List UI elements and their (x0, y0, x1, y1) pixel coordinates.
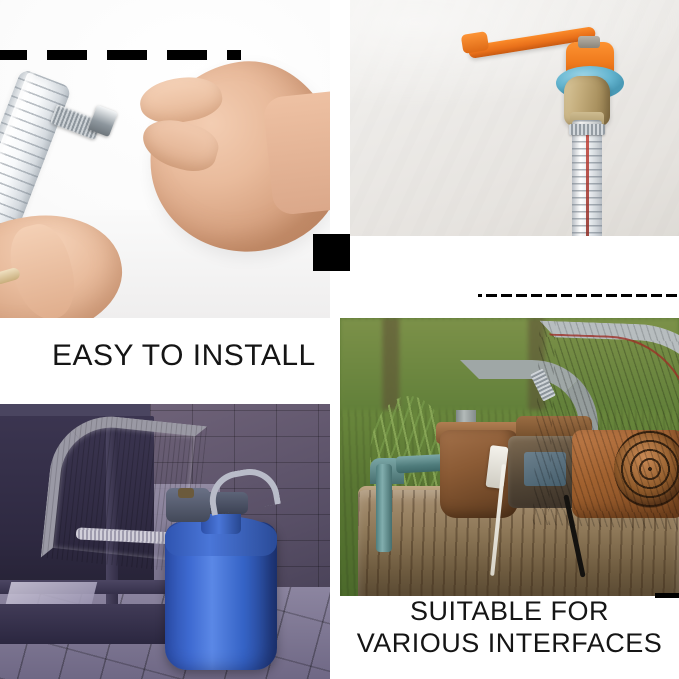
grill-base (0, 604, 172, 644)
dash-segment (478, 294, 482, 297)
gas-cylinder-photo (0, 404, 330, 679)
dash-segment (561, 294, 572, 297)
dash-segment (636, 294, 647, 297)
hose-red-stripe (543, 333, 679, 492)
hose-clamp-band (569, 124, 605, 135)
dash-segment (531, 294, 542, 297)
dash-segment (167, 50, 207, 60)
right-wrist (262, 86, 330, 216)
valve-lever-tip (461, 31, 490, 54)
dash-segment (606, 294, 617, 297)
dash-segment (47, 50, 87, 60)
dashed-rule-mid-right (478, 294, 677, 297)
caption-easy-to-install: EASY TO INSTALL (52, 338, 316, 373)
wall-valve-photo (350, 0, 679, 236)
inlet-pipe-riser (376, 464, 392, 552)
pump-housing (440, 430, 518, 518)
dash-segment (107, 50, 147, 60)
valve-stem-nut (578, 36, 600, 48)
black-corner-square (313, 234, 350, 271)
dash-segment (621, 294, 632, 297)
easy-to-install-photo (0, 0, 330, 318)
hose-red-stripe (586, 124, 589, 236)
dashed-rule-top-left (0, 50, 241, 60)
caption-suitable-for-various-interfaces: SUITABLE FOR VARIOUS INTERFACES (340, 596, 679, 660)
product-collage: EASY TO INSTALL (0, 0, 679, 679)
dash-segment (546, 294, 557, 297)
dash-segment (651, 294, 662, 297)
dash-segment (591, 294, 602, 297)
water-pump-photo (340, 318, 679, 596)
dash-segment (0, 50, 27, 60)
dash-segment (516, 294, 527, 297)
dash-segment (666, 294, 677, 297)
dash-segment (501, 294, 512, 297)
dash-segment (227, 50, 241, 60)
dash-segment (486, 294, 497, 297)
dash-segment (576, 294, 587, 297)
wall-texture (350, 0, 679, 236)
regulator-cap (178, 488, 194, 498)
